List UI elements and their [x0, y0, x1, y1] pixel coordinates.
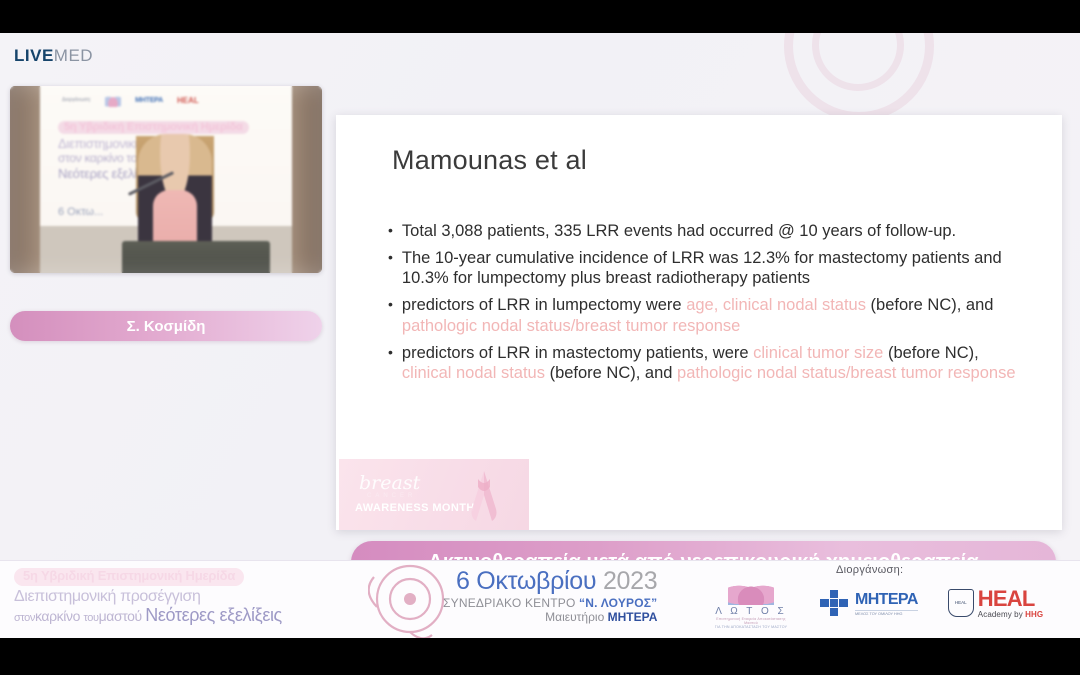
session-title-text: Ακτινοθεραπεία μετά από νεοεπικουρική χη…: [428, 551, 978, 561]
video-overlay: [10, 86, 322, 273]
footer-date-month: Οκτωβρίου: [476, 567, 596, 595]
footer-venue2: Μαιευτήριο ΜΗΤΕΡΑ: [443, 610, 657, 624]
bullet-plain-run: The 10-year cumulative incidence of LRR …: [402, 249, 1002, 287]
bullet-highlight-run: age, clinical nodal status: [686, 296, 866, 314]
event-footer: 5η Υβριδική Επιστημονική Ημερίδα Διεπιστ…: [0, 560, 1080, 638]
ribbon-sub-text: CANCER: [367, 493, 416, 499]
mitera-name: ΜΗΤΕΡΑ: [855, 591, 918, 609]
footer-line3-a: στον: [14, 612, 35, 624]
footer-org-label: Διοργάνωση:: [836, 564, 903, 576]
footer-venue-label: ΣΥΝΕΔΡΙΑΚΟ ΚΕΝΤΡΟ: [443, 596, 576, 610]
bullet-text: The 10-year cumulative incidence of LRR …: [402, 248, 1026, 288]
ribbon-main-text: AWARENESS MONTH: [355, 502, 475, 514]
heal-sub-hhg: HHG: [1025, 610, 1043, 619]
footer-line3-d: μαστού: [99, 608, 142, 624]
bullet-text: Total 3,088 patients, 335 LRR events had…: [402, 221, 1026, 241]
footer-venue2-b: ΜΗΤΕΡΑ: [608, 610, 658, 624]
lotus-logo[interactable]: Λ Ω Τ Ο Σ Επιστημονική Εταιρεία Αποκατάσ…: [712, 577, 790, 629]
footer-venue2-a: Μαιευτήριο: [545, 610, 604, 624]
mitera-cross-icon: [820, 590, 850, 616]
footer-line3-b: καρκίνο: [35, 608, 80, 624]
lotus-flower-icon: [728, 577, 774, 605]
footer-sponsor-logos: Λ Ω Τ Ο Σ Επιστημονική Εταιρεία Αποκατάσ…: [712, 577, 1043, 629]
ribbon-script-text: breast: [359, 472, 420, 494]
bullet-highlight-run: pathologic nodal status/breast tumor res…: [402, 317, 740, 335]
footer-event-line3: στονκαρκίνο τουμαστού Νεότερες εξελίξεις: [14, 605, 282, 625]
awareness-ribbon-banner: breast CANCER AWARENESS MONTH: [339, 459, 529, 530]
mitera-sub: ΜΕΛΟΣ ΤΟΥ ΟΜΙΛΟΥ HHG: [855, 610, 918, 616]
slide-bullet: •predictors of LRR in mastectomy patient…: [388, 343, 1026, 383]
bullet-dot-icon: •: [388, 248, 393, 288]
bullet-plain-run: predictors of LRR in lumpectomy were: [402, 296, 686, 314]
bullet-dot-icon: •: [388, 343, 393, 383]
bullet-plain-run: Total 3,088 patients, 335 LRR events had…: [402, 222, 956, 240]
slide-bullet: •Total 3,088 patients, 335 LRR events ha…: [388, 221, 1026, 241]
speaker-name-text: Σ. Κοσμίδη: [127, 318, 206, 335]
heal-shield-text: HEAL: [955, 600, 967, 606]
video-frame: Διοργάνωση: ΜΗΤΕΡΑ HEAL 5η Υβριδική Επισ…: [10, 86, 322, 273]
footer-date: 6 Οκτωβρίου 2023: [443, 567, 657, 596]
bullet-dot-icon: •: [388, 221, 393, 241]
slide-title: Mamounas et al: [392, 145, 587, 176]
speaker-name-banner: Σ. Κοσμίδη: [10, 311, 322, 341]
footer-line3-c: του: [83, 612, 98, 624]
bullet-plain-run: (before NC),: [883, 344, 978, 362]
pink-ribbon-icon: [465, 465, 503, 525]
livemed-logo[interactable]: LIVEMED: [14, 46, 93, 66]
session-title-bar: Ακτινοθεραπεία μετά από νεοεπικουρική χη…: [351, 541, 1056, 560]
slide-bullet: •predictors of LRR in lumpectomy were ag…: [388, 295, 1026, 335]
footer-event-block: 5η Υβριδική Επιστημονική Ημερίδα Διεπιστ…: [14, 567, 282, 626]
bullet-highlight-run: pathologic nodal status/breast tumor res…: [677, 364, 1015, 382]
footer-event-pill: 5η Υβριδική Επιστημονική Ημερίδα: [14, 568, 244, 586]
logo-med-text: MED: [54, 46, 93, 65]
bullet-plain-run: (before NC), and: [866, 296, 993, 314]
footer-venue: ΣΥΝΕΔΡΙΑΚΟ ΚΕΝΤΡΟ “Ν. ΛΟΥΡΟΣ”: [443, 596, 657, 610]
bullet-text: predictors of LRR in mastectomy patients…: [402, 343, 1026, 383]
bullet-plain-run: (before NC), and: [545, 364, 677, 382]
screen-root: LIVEMED Διοργάνωση: ΜΗΤΕΡΑ HEAL 5η Υβριδ…: [0, 0, 1080, 675]
bullet-highlight-run: clinical tumor size: [753, 344, 883, 362]
lotus-sub1: Επιστημονική Εταιρεία Αποκατάστασης Μαστ…: [712, 617, 790, 625]
bullet-highlight-run: clinical nodal status: [402, 364, 545, 382]
heal-wordmark: HEAL: [978, 588, 1043, 610]
footer-date-year: 2023: [603, 567, 657, 595]
bullet-dot-icon: •: [388, 295, 393, 335]
heal-sub-a: Academy by: [978, 610, 1025, 619]
heal-text: HEAL Academy by HHG: [978, 588, 1043, 619]
slide-panel[interactable]: Mamounas et al •Total 3,088 patients, 33…: [336, 115, 1062, 530]
heal-subtitle: Academy by HHG: [978, 610, 1043, 619]
mitera-text: ΜΗΤΕΡΑ ΜΕΛΟΣ ΤΟΥ ΟΜΙΛΟΥ HHG: [855, 591, 918, 616]
presentation-stage: LIVEMED Διοργάνωση: ΜΗΤΕΡΑ HEAL 5η Υβριδ…: [0, 33, 1080, 560]
mitera-logo[interactable]: ΜΗΤΕΡΑ ΜΕΛΟΣ ΤΟΥ ΟΜΙΛΟΥ HHG: [820, 590, 918, 616]
lotus-name: Λ Ω Τ Ο Σ: [712, 606, 790, 617]
bullet-plain-run: predictors of LRR in mastectomy patients…: [402, 344, 753, 362]
slide-bullet-list: •Total 3,088 patients, 335 LRR events ha…: [388, 221, 1026, 390]
lotus-sub2: ΓΙΑ ΤΗΝ ΑΠΟΚΑΤΑΣΤΑΣΗ ΤΟΥ ΜΑΣΤΟΥ: [712, 625, 790, 629]
footer-date-day: 6: [456, 567, 470, 595]
footer-spiral-icon: [368, 560, 452, 638]
footer-venue-name: “Ν. ΛΟΥΡΟΣ”: [579, 596, 657, 610]
logo-live-text: LIVE: [14, 46, 54, 65]
speaker-video-panel[interactable]: Διοργάνωση: ΜΗΤΕΡΑ HEAL 5η Υβριδική Επισ…: [10, 86, 322, 273]
slide-bullet: •The 10-year cumulative incidence of LRR…: [388, 248, 1026, 288]
heal-shield-icon: HEAL: [948, 589, 974, 617]
footer-line3-e: Νεότερες εξελίξεις: [145, 605, 282, 625]
footer-event-line2: Διεπιστημονική προσέγγιση: [14, 588, 282, 606]
heal-logo[interactable]: HEAL HEAL Academy by HHG: [948, 588, 1043, 619]
footer-date-block: 6 Οκτωβρίου 2023 ΣΥΝΕΔΡΙΑΚΟ ΚΕΝΤΡΟ “Ν. Λ…: [443, 567, 657, 624]
bullet-text: predictors of LRR in lumpectomy were age…: [402, 295, 1026, 335]
